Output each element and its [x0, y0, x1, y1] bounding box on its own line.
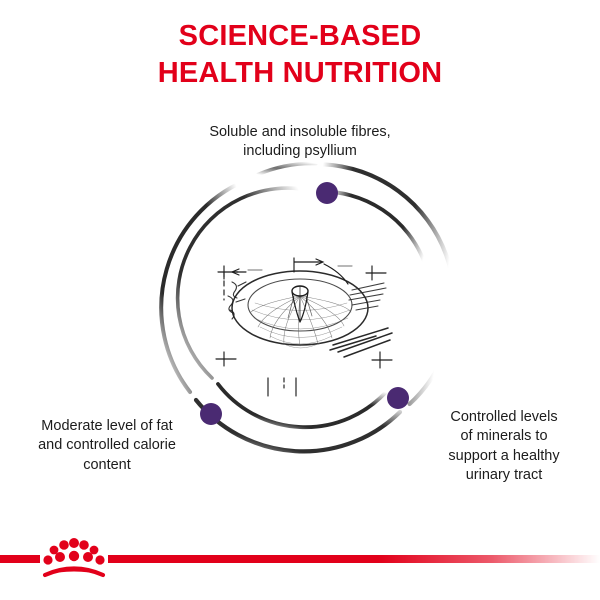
brand-footer	[0, 520, 600, 600]
kibble-center-peak	[288, 286, 312, 322]
node-bottom-right-dot[interactable]	[387, 387, 409, 409]
callout-soluble-fibres: Soluble and insoluble fibres, including …	[150, 123, 450, 162]
node-top-dot[interactable]	[316, 182, 338, 204]
outer-ring-arc-right	[323, 164, 455, 404]
royal-canin-crown-icon	[43, 538, 104, 575]
kibble-technical-sketch	[216, 258, 392, 396]
outer-ring-arc-topleft	[258, 163, 316, 174]
nutrition-benefit-diagram	[0, 0, 600, 600]
callout-moderate-fat: Moderate level of fat and controlled cal…	[2, 417, 212, 475]
brand-band-right	[108, 555, 600, 563]
outer-ring-arc-left	[161, 178, 252, 392]
brand-band-left	[0, 555, 40, 563]
inner-ring-arc-right	[318, 191, 432, 386]
kibble-hatch-lines-lower	[330, 328, 392, 357]
callout-controlled-minerals: Controlled levels of minerals to support…	[414, 408, 594, 486]
crown-base-arc-stroke	[45, 569, 103, 576]
inner-ring-arc-bottom	[218, 384, 386, 427]
benefit-nodes	[200, 182, 409, 425]
